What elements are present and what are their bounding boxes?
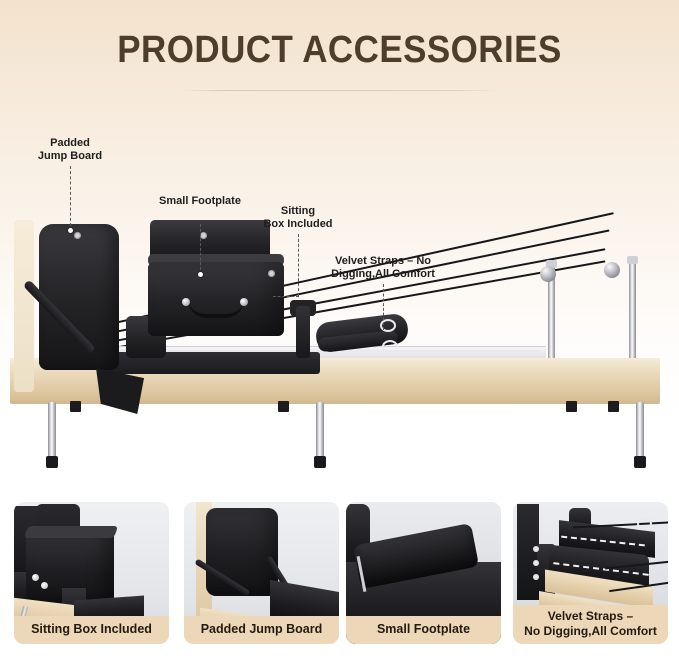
support-leg-left [48, 402, 56, 460]
callout-velvet-straps-line2: Digging,All Comfort [313, 268, 453, 281]
callout-small-footplate: Small Footplate [146, 195, 254, 208]
strap-clip-lower [382, 340, 398, 353]
thumbnail-caption-velvet-straps-line1: Velvet Straps – [513, 609, 668, 624]
callout-sitting-box-line2: Box Included [252, 218, 344, 231]
thumbnail-strip: Sitting Box Included Padded Jump Board [0, 490, 679, 659]
jump-board-knob [74, 232, 81, 239]
thumbnail-caption-small-footplate: Small Footplate [346, 616, 501, 644]
sitting-box-rivet-right [240, 298, 248, 306]
frame-bracket-2 [278, 401, 289, 412]
callout-padded-jump-board-line1: Padded [27, 137, 113, 150]
callout-velvet-straps-line1: Velvet Straps – No [313, 255, 453, 268]
footbar [296, 306, 310, 358]
callout-sitting-box-line1: Sitting [252, 205, 344, 218]
sitting-box [148, 262, 284, 336]
leader-line-sitting-box-vertical [298, 234, 299, 296]
thumbnail-caption-velvet-straps-line2: No Digging,All Comfort [513, 624, 668, 639]
thumbnail-small-footplate[interactable]: Small Footplate [346, 502, 501, 644]
thumbnail-caption-sitting-box: Sitting Box Included [14, 616, 169, 644]
leader-line-sitting-box-horizontal [273, 296, 299, 297]
callout-padded-jump-board-line2: Jump Board [27, 150, 113, 163]
sitting-box-side-knob [268, 270, 275, 277]
thumbnail-velvet-straps[interactable]: Velvet Straps – No Digging,All Comfort [513, 502, 668, 644]
frame-bracket-4 [608, 401, 619, 412]
title-divider [183, 90, 496, 91]
callout-padded-jump-board: Padded Jump Board [27, 137, 113, 163]
hero-section: PRODUCT ACCESSORIES [0, 0, 679, 490]
sitting-box-rivet-left [182, 298, 190, 306]
leader-dot-padded-jump-board [68, 228, 73, 233]
thumbnail-caption-velvet-straps: Velvet Straps – No Digging,All Comfort [513, 605, 668, 644]
callout-velvet-straps: Velvet Straps – No Digging,All Comfort [313, 255, 453, 281]
riser-post-right-cap [627, 256, 638, 264]
frame-bracket-3 [566, 401, 577, 412]
leader-dot-small-footplate [198, 272, 203, 277]
callout-sitting-box: Sitting Box Included [252, 205, 344, 231]
leader-line-padded-jump-board [70, 166, 71, 226]
callout-small-footplate-line1: Small Footplate [146, 195, 254, 208]
pulley-left [540, 266, 556, 282]
thumbnail-sitting-box-included[interactable]: Sitting Box Included [14, 502, 169, 644]
sitting-box-knob [200, 232, 207, 239]
support-leg-middle [316, 402, 324, 460]
jump-board-wood-mount [14, 220, 34, 392]
riser-post-right [629, 260, 636, 368]
pulley-right [604, 262, 620, 278]
support-foot-left [46, 456, 58, 468]
padded-jump-board [39, 224, 119, 370]
support-leg-right [636, 402, 644, 460]
frame-bracket-1 [70, 401, 81, 412]
leader-line-velvet-straps [383, 284, 384, 330]
thumbnail-padded-jump-board[interactable]: Padded Jump Board [184, 502, 339, 644]
page-title: PRODUCT ACCESSORIES [27, 29, 652, 72]
product-accessories-page: PRODUCT ACCESSORIES [0, 0, 679, 659]
support-foot-right [634, 456, 646, 468]
reformer-illustration [0, 200, 679, 490]
leader-line-small-footplate [200, 224, 201, 270]
thumbnail-caption-jump-board: Padded Jump Board [184, 616, 339, 644]
support-foot-middle [314, 456, 326, 468]
